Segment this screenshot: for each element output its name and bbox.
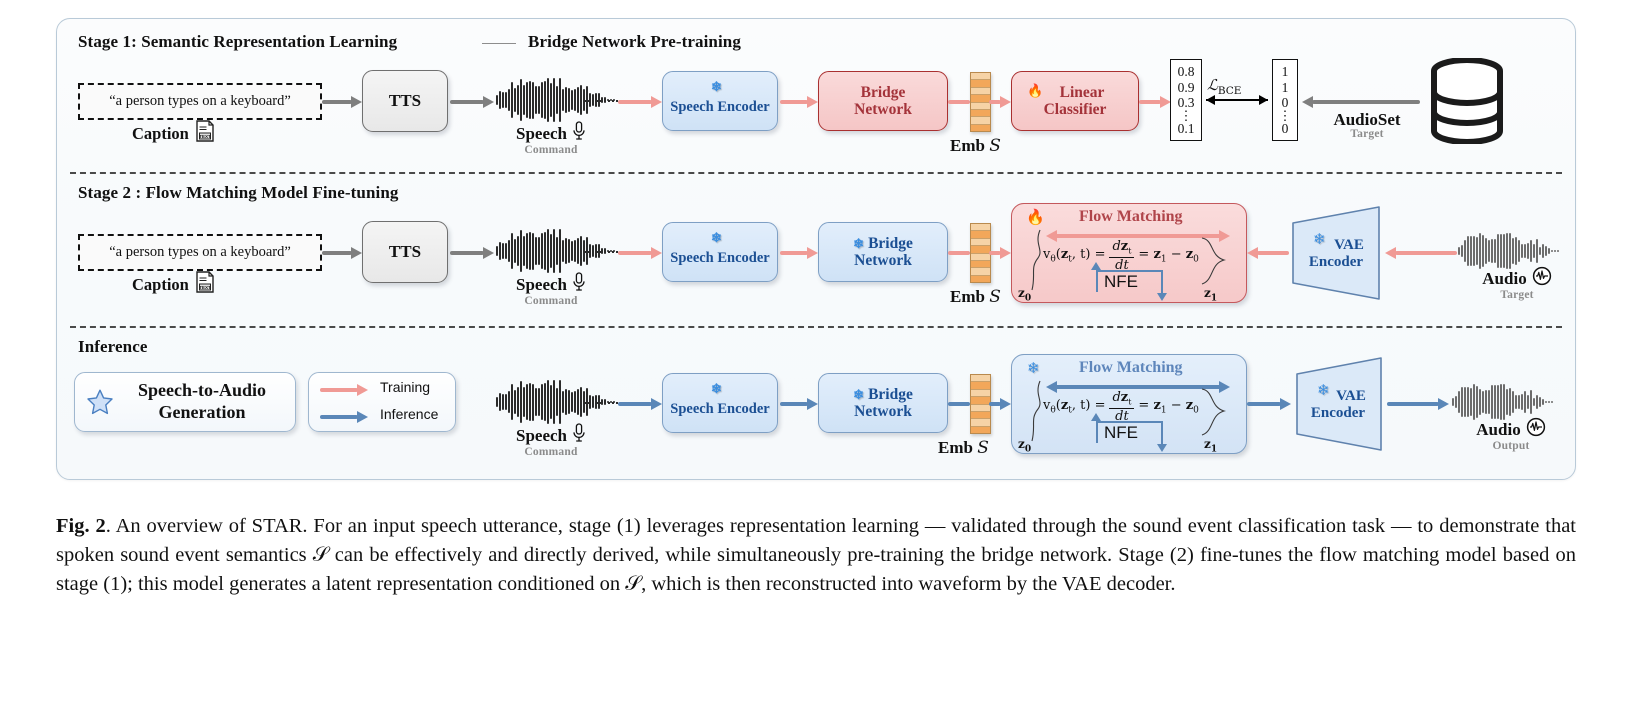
inference-bridge-network-box[interactable]: ❄Bridge Network bbox=[818, 373, 948, 433]
inference-nfe-top-line bbox=[1096, 421, 1162, 423]
stage1-emb-symbol: S bbox=[989, 136, 1001, 156]
stage2-nfe-left-stem bbox=[1096, 270, 1098, 292]
text-file-icon: TEXT bbox=[195, 120, 215, 147]
inference-speech-encoder-box[interactable]: ❄ Speech Encoder bbox=[662, 373, 778, 433]
stage1-title-rule bbox=[482, 43, 516, 44]
inference-z1-label: z1 bbox=[1204, 437, 1217, 454]
s2a-line-2: Generation bbox=[118, 402, 286, 424]
stage1-tts-box[interactable]: TTS bbox=[362, 70, 448, 132]
stage-divider-2 bbox=[70, 326, 1562, 328]
stage2-z0-label: z0 bbox=[1018, 286, 1031, 303]
stage2-bridge-text-1: Bridge bbox=[868, 235, 913, 252]
prediction-vector: 0.8 0.9 0.3 ⋮ 0.1 bbox=[1170, 59, 1202, 141]
stage1-classifier-line-1: Linear bbox=[1060, 84, 1105, 101]
inference-vae-line-1: VAE bbox=[1291, 388, 1385, 405]
stage2-speech-label-text: Speech bbox=[516, 275, 567, 295]
snowflake-icon-6: ❄ bbox=[853, 387, 864, 402]
stage2-caption-text: “a person types on a keyboard” bbox=[109, 244, 291, 261]
stage2-emb-symbol: S bbox=[989, 287, 1001, 307]
figure-caption-text: . An overview of STAR. For an input spee… bbox=[56, 515, 1576, 595]
audio-waveform-circle-icon bbox=[1532, 266, 1552, 291]
stage2-audio-sub: Target bbox=[1452, 289, 1582, 301]
stage2-vae-encoder[interactable]: ❄ VAE Encoder bbox=[1289, 205, 1383, 301]
stage2-emb-stack bbox=[970, 223, 991, 283]
target-val-3: 0 bbox=[1282, 121, 1289, 137]
stage2-z0-distribution bbox=[1028, 226, 1052, 292]
stage2-title: Stage 2 : Flow Matching Model Fine-tunin… bbox=[78, 183, 398, 203]
target-val-1: 1 bbox=[1282, 80, 1289, 96]
svg-text:TEXT: TEXT bbox=[199, 134, 211, 139]
inference-title: Inference bbox=[78, 337, 148, 357]
star-icon bbox=[86, 388, 114, 421]
inference-bridge-text-1: Bridge bbox=[868, 386, 913, 403]
s2a-title: Speech-to-Audio Generation bbox=[118, 380, 286, 423]
inference-audio-sub: Output bbox=[1446, 440, 1576, 452]
stage2-audio-label-text: Audio bbox=[1482, 269, 1526, 289]
stage2-emb-label-text: Emb bbox=[950, 287, 985, 306]
legend-training-label: Training bbox=[380, 379, 430, 395]
stage1-linear-classifier-box[interactable]: 🔥 Linear Classifier bbox=[1011, 71, 1139, 131]
inference-nfe-label: NFE bbox=[1104, 423, 1138, 443]
inference-audio-label-text: Audio bbox=[1476, 420, 1520, 440]
inference-flow-matching-title: Flow Matching bbox=[1079, 359, 1183, 377]
audio-waveform-circle-icon-2 bbox=[1526, 417, 1546, 442]
stage2-nfe-top-line bbox=[1096, 270, 1162, 272]
stage2-vae-line-2: Encoder bbox=[1289, 254, 1383, 271]
inference-vae-line-2: Encoder bbox=[1291, 405, 1385, 422]
stage1-emb-label: Emb S bbox=[950, 136, 1001, 156]
stage1-tts-label: TTS bbox=[389, 91, 421, 110]
stage1-caption-label: Caption bbox=[132, 124, 189, 144]
inference-nfe-right-stem bbox=[1161, 421, 1163, 445]
stage1-emb-label-text: Emb bbox=[950, 136, 985, 155]
stage2-audio-label: Audio Target bbox=[1452, 266, 1582, 301]
stage1-speech-sub: Command bbox=[496, 144, 606, 156]
pred-val-3: 0.1 bbox=[1178, 121, 1195, 137]
stage2-flow-equation: vθ(zt, t) = dztdt = z1 − z0 bbox=[1043, 240, 1199, 272]
stage2-caption-label-wrap: Caption TEXT bbox=[132, 271, 215, 298]
inference-speech-label-text: Speech bbox=[516, 426, 567, 446]
audioset-label: AudioSet Target bbox=[1312, 110, 1422, 140]
stage2-speech-label: Speech Command bbox=[496, 272, 606, 307]
stage2-speech-sub: Command bbox=[496, 295, 606, 307]
stage2-tts-box[interactable]: TTS bbox=[362, 221, 448, 283]
fire-icon-2: 🔥 bbox=[1026, 211, 1045, 226]
figure-caption: Fig. 2. An overview of STAR. For an inpu… bbox=[56, 512, 1576, 599]
pred-ellipsis: ⋮ bbox=[1180, 111, 1193, 121]
stage2-caption-box: “a person types on a keyboard” bbox=[78, 234, 322, 271]
snowflake-icon: ❄ bbox=[711, 80, 722, 93]
stage2-vae-line-1: VAE bbox=[1289, 237, 1383, 254]
stage2-speech-encoder-label: Speech Encoder bbox=[670, 250, 769, 266]
legend-inference-label: Inference bbox=[380, 406, 438, 422]
bce-loss-subscript: BCE bbox=[1218, 85, 1242, 97]
stage1-bridge-line-1: Bridge bbox=[861, 84, 906, 101]
target-ellipsis: ⋮ bbox=[1279, 111, 1292, 121]
fire-icon: 🔥 bbox=[1027, 84, 1043, 97]
inference-speech-label: Speech Command bbox=[496, 423, 606, 458]
snowflake-icon-3: ❄ bbox=[853, 236, 864, 251]
figure-label: Fig. 2 bbox=[56, 515, 106, 537]
figure-root: Stage 1: Semantic Representation Learnin… bbox=[0, 0, 1630, 706]
stage2-z1-distribution bbox=[1200, 230, 1230, 292]
s2a-line-1: Speech-to-Audio bbox=[118, 380, 286, 402]
database-icon bbox=[1428, 58, 1506, 149]
stage1-speech-encoder-box[interactable]: ❄ Speech Encoder bbox=[662, 71, 778, 131]
stage-divider-1 bbox=[70, 172, 1562, 174]
inference-nfe-down-arrowhead bbox=[1157, 444, 1167, 452]
inference-z0-label: z0 bbox=[1018, 437, 1031, 454]
stage1-emb-stack bbox=[970, 72, 991, 132]
snowflake-icon-5: ❄ bbox=[711, 382, 722, 395]
pred-val-1: 0.9 bbox=[1178, 80, 1195, 96]
inference-nfe-up-arrowhead bbox=[1091, 413, 1101, 421]
inference-audio-label: Audio Output bbox=[1446, 417, 1576, 452]
stage2-bridge-network-box[interactable]: ❄Bridge Network bbox=[818, 222, 948, 282]
snowflake-icon-2: ❄ bbox=[711, 231, 722, 244]
svg-text:TEXT: TEXT bbox=[199, 285, 211, 290]
stage2-audio-waveform bbox=[1458, 233, 1559, 269]
inference-flow-equation: vθ(zt, t) = dztdt = z1 − z0 bbox=[1043, 391, 1199, 423]
audioset-sub: Target bbox=[1312, 128, 1422, 140]
text-file-icon-2: TEXT bbox=[195, 271, 215, 298]
inference-vae-encoder[interactable]: ❄ VAE Encoder bbox=[1291, 356, 1385, 452]
stage2-speech-dotline bbox=[584, 251, 618, 253]
stage2-z1-label: z1 bbox=[1204, 286, 1217, 303]
target-val-0: 1 bbox=[1282, 64, 1289, 80]
target-vector: 1 1 0 ⋮ 0 bbox=[1272, 59, 1298, 141]
inference-speech-dotline bbox=[584, 402, 618, 404]
stage1-bridge-network-box[interactable]: Bridge Network bbox=[818, 71, 948, 131]
stage2-bridge-line-1: ❄Bridge bbox=[853, 235, 913, 252]
inference-emb-label: Emb S bbox=[938, 438, 989, 458]
stage2-flow-matching-title: Flow Matching bbox=[1079, 208, 1183, 226]
snowflake-icon-7: ❄ bbox=[1027, 362, 1040, 377]
stage2-emb-label: Emb S bbox=[950, 287, 1001, 307]
stage1-classifier-line-2: Classifier bbox=[1044, 101, 1107, 118]
stage1-caption-box: “a person types on a keyboard” bbox=[78, 83, 322, 120]
stage1-caption-text: “a person types on a keyboard” bbox=[109, 93, 291, 110]
microphone-icon-2 bbox=[572, 272, 586, 297]
inference-emb-stack bbox=[970, 374, 991, 434]
stage1-bridge-line-2: Network bbox=[854, 101, 912, 118]
microphone-icon-3 bbox=[572, 423, 586, 448]
inference-nfe-left-stem bbox=[1096, 421, 1098, 443]
stage2-nfe-right-stem bbox=[1161, 270, 1163, 294]
inference-speech-encoder-label: Speech Encoder bbox=[670, 401, 769, 417]
stage2-speech-encoder-box[interactable]: ❄ Speech Encoder bbox=[662, 222, 778, 282]
bce-loss-label: ℒBCE bbox=[1207, 76, 1241, 97]
stage1-speech-label: Speech Command bbox=[496, 121, 606, 156]
inference-bridge-line-1: ❄Bridge bbox=[853, 386, 913, 403]
inference-z0-distribution bbox=[1028, 377, 1052, 443]
stage1-caption-label-wrap: Caption TEXT bbox=[132, 120, 215, 147]
stage2-nfe-label: NFE bbox=[1104, 272, 1138, 292]
stage1-speech-encoder-label: Speech Encoder bbox=[670, 99, 769, 115]
stage1-speech-label-text: Speech bbox=[516, 124, 567, 144]
stage1-title-suffix: Bridge Network Pre-training bbox=[528, 32, 741, 52]
microphone-icon bbox=[572, 121, 586, 146]
stage2-caption-label: Caption bbox=[132, 275, 189, 295]
stage1-title: Stage 1: Semantic Representation Learnin… bbox=[78, 32, 397, 52]
stage2-tts-label: TTS bbox=[389, 242, 421, 261]
inference-bridge-line-2: Network bbox=[854, 403, 912, 420]
inference-z1-distribution bbox=[1200, 381, 1230, 443]
pred-val-0: 0.8 bbox=[1178, 64, 1195, 80]
stage1-speech-dotline bbox=[584, 100, 618, 102]
stage2-bridge-line-2: Network bbox=[854, 252, 912, 269]
stage2-nfe-up-arrowhead bbox=[1091, 262, 1101, 270]
inference-speech-sub: Command bbox=[496, 446, 606, 458]
inference-emb-symbol: S bbox=[977, 438, 989, 458]
inference-emb-label-text: Emb bbox=[938, 438, 973, 457]
inference-audio-waveform bbox=[1452, 384, 1553, 420]
stage2-nfe-down-arrowhead bbox=[1157, 293, 1167, 301]
audioset-label-text: AudioSet bbox=[1333, 110, 1400, 130]
